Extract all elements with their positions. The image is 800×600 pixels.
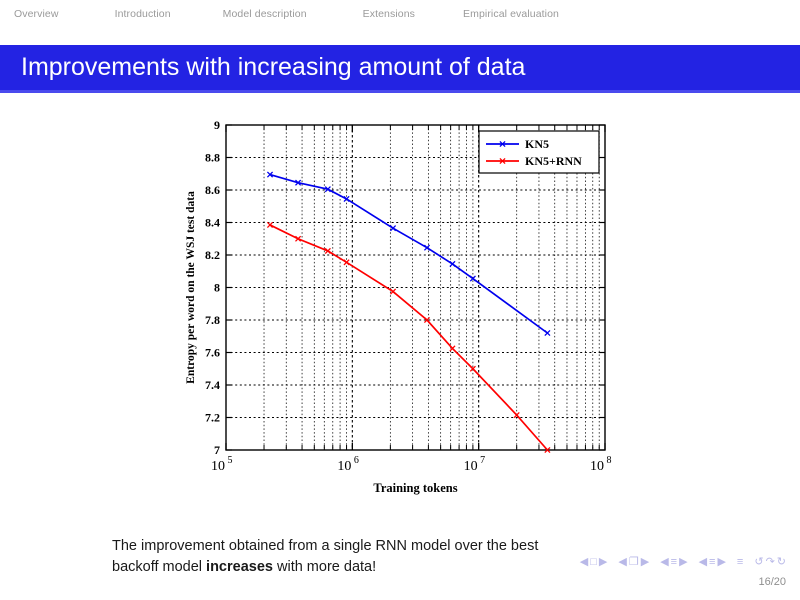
- y-tick-label: 7: [214, 443, 220, 457]
- beamer-nav-symbol-11[interactable]: ▶: [717, 557, 725, 568]
- beamer-navigation-symbols[interactable]: ◀□▶◀❐▶◀≡▶◀≡▶≡↺↷↻: [580, 557, 786, 568]
- y-axis-label: Entropy per word on the WSJ test data: [185, 191, 197, 384]
- x-axis-label: Training tokens: [373, 481, 457, 495]
- nav-item-overview[interactable]: Overview: [14, 8, 59, 20]
- x-tick-label: 106: [337, 455, 359, 474]
- legend-label-0: KN5: [525, 137, 549, 151]
- slide-title-banner: Improvements with increasing amount of d…: [0, 45, 800, 90]
- beamer-nav-symbol-8[interactable]: ▶: [679, 557, 687, 568]
- x-tick-label: 108: [590, 455, 612, 474]
- y-tick-label: 8.6: [205, 183, 220, 197]
- chart-figure: 77.27.47.67.888.28.48.68.89105106107108T…: [180, 110, 630, 495]
- legend-label-1: KN5+RNN: [525, 154, 582, 168]
- y-tick-label: 7.2: [205, 411, 220, 425]
- data-point-marker: [390, 289, 395, 294]
- page-number: 16/20: [758, 576, 786, 588]
- data-point-marker: [390, 226, 395, 231]
- beamer-nav-symbol-13[interactable]: ↺: [754, 557, 763, 568]
- x-tick-label: 105: [211, 455, 233, 474]
- caption-line-2-prefix: backoff model: [112, 559, 206, 575]
- page-title: Improvements with increasing amount of d…: [21, 53, 525, 82]
- nav-item-empirical-evaluation[interactable]: Empirical evaluation: [463, 8, 559, 20]
- nav-item-extensions[interactable]: Extensions: [363, 8, 415, 20]
- series-line-kn5: [270, 175, 547, 333]
- y-tick-label: 8.2: [205, 248, 220, 262]
- x-tick-base: 10: [211, 459, 225, 474]
- beamer-nav-symbol-2[interactable]: ▶: [599, 557, 607, 568]
- beamer-nav-symbol-6[interactable]: ◀: [660, 557, 668, 568]
- title-banner-underline: [0, 90, 800, 93]
- beamer-nav-symbol-3[interactable]: ◀: [618, 557, 626, 568]
- data-point-marker: [450, 261, 455, 266]
- beamer-nav-symbol-9[interactable]: ◀: [699, 557, 707, 568]
- y-tick-label: 7.4: [205, 378, 220, 392]
- x-tick-exponent: 7: [480, 455, 485, 466]
- beamer-nav-symbol-12[interactable]: ≡: [737, 557, 743, 568]
- nav-item-model-description[interactable]: Model description: [223, 8, 307, 20]
- x-tick-base: 10: [337, 459, 351, 474]
- caption-line-2-suffix: with more data!: [273, 559, 376, 575]
- entropy-vs-training-tokens-chart: 77.27.47.67.888.28.48.68.89105106107108T…: [180, 110, 630, 495]
- x-tick-label: 107: [464, 455, 486, 474]
- x-tick-exponent: 5: [228, 455, 233, 466]
- x-tick-exponent: 6: [354, 455, 359, 466]
- x-tick-base: 10: [464, 459, 478, 474]
- y-tick-label: 8.8: [205, 151, 220, 165]
- beamer-nav-symbol-15[interactable]: ↻: [777, 557, 786, 568]
- data-point-marker: [344, 260, 349, 265]
- beamer-nav-symbol-5[interactable]: ▶: [641, 557, 649, 568]
- y-tick-label: 9: [214, 118, 220, 132]
- y-tick-label: 7.6: [205, 346, 220, 360]
- caption-emphasis: increases: [206, 559, 273, 575]
- beamer-nav-symbol-0[interactable]: ◀: [580, 557, 588, 568]
- data-point-marker: [545, 330, 550, 335]
- top-navigation-bar: Overview Introduction Model description …: [0, 0, 800, 28]
- x-tick-exponent: 8: [607, 455, 612, 466]
- data-point-marker: [424, 245, 429, 250]
- beamer-nav-symbol-1[interactable]: □: [590, 557, 597, 568]
- beamer-nav-symbol-4[interactable]: ❐: [629, 557, 639, 568]
- series-line-kn5-rnn: [270, 225, 547, 450]
- nav-item-introduction[interactable]: Introduction: [115, 8, 171, 20]
- beamer-nav-symbol-7[interactable]: ≡: [671, 557, 677, 568]
- x-tick-base: 10: [590, 459, 604, 474]
- beamer-nav-symbol-10[interactable]: ≡: [709, 557, 715, 568]
- y-tick-label: 7.8: [205, 313, 220, 327]
- y-tick-label: 8: [214, 281, 220, 295]
- data-point-marker: [514, 412, 519, 417]
- y-tick-label: 8.4: [205, 216, 220, 230]
- beamer-nav-symbol-14[interactable]: ↷: [766, 557, 775, 568]
- caption-line-1: The improvement obtained from a single R…: [112, 538, 538, 554]
